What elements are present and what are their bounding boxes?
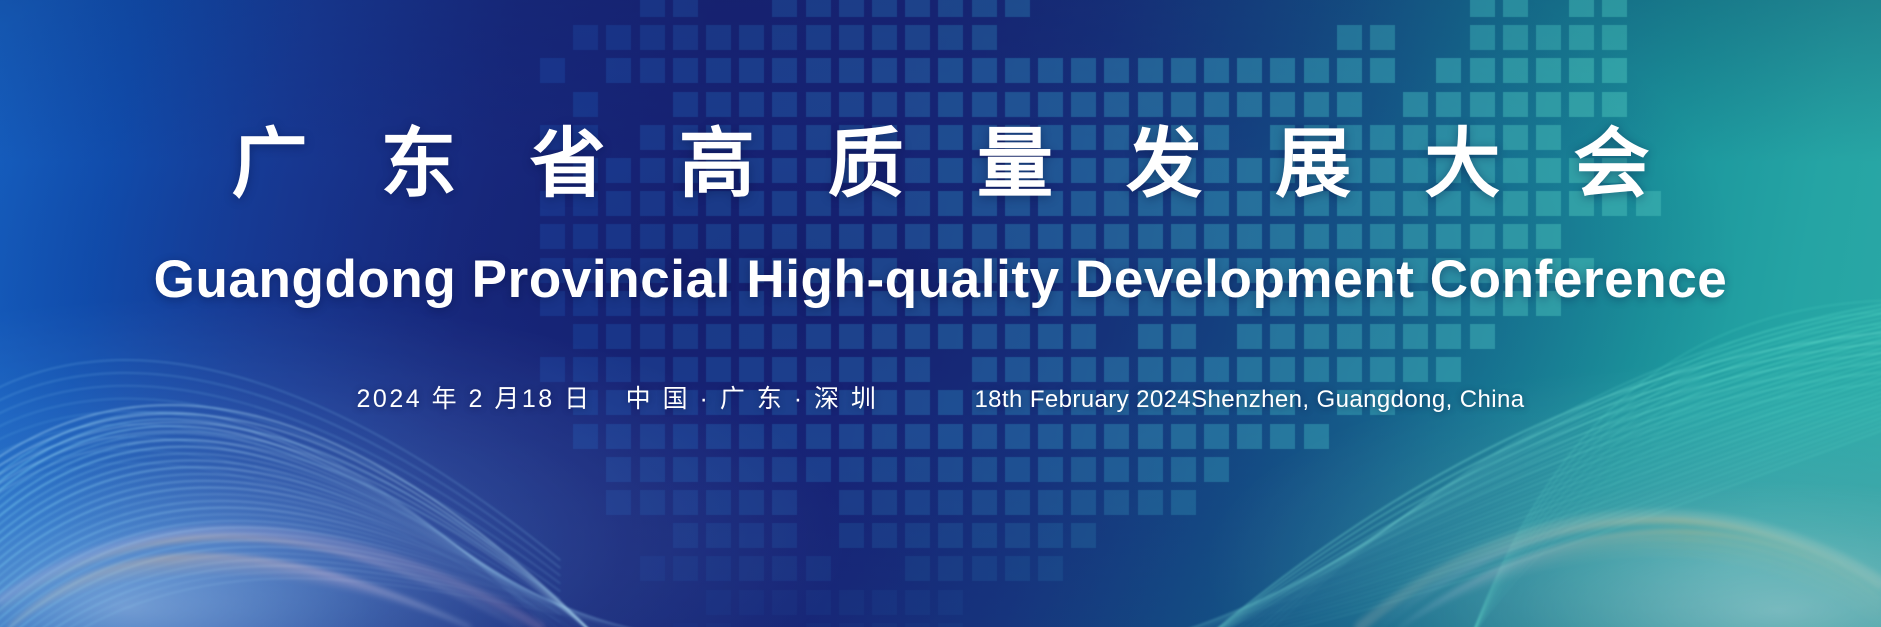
event-location-chinese: 中 国 · 广 东 · 深 圳 — [626, 383, 879, 415]
event-date-chinese: 2024 年 2 月18 日 — [357, 383, 592, 415]
page-title-chinese: 广 东 省 高 质 量 发 展 大 会 — [0, 122, 1881, 208]
event-meta-row: 2024 年 2 月18 日 中 国 · 广 东 · 深 圳 18th Febr… — [0, 383, 1881, 416]
background-gradient — [0, 0, 1881, 627]
light-arc-decoration — [0, 0, 1881, 627]
conference-banner: 广 东 省 高 质 量 发 展 大 会 Guangdong Provincial… — [0, 0, 1881, 627]
event-location-english: Shenzhen, Guangdong, China — [1191, 384, 1524, 416]
page-title-english: Guangdong Provincial High-quality Develo… — [0, 250, 1881, 310]
dotted-china-map — [0, 0, 1881, 627]
background-vignette — [0, 0, 1881, 627]
event-date-english: 18th February 2024 — [974, 384, 1191, 416]
background-bloom — [0, 0, 1881, 627]
